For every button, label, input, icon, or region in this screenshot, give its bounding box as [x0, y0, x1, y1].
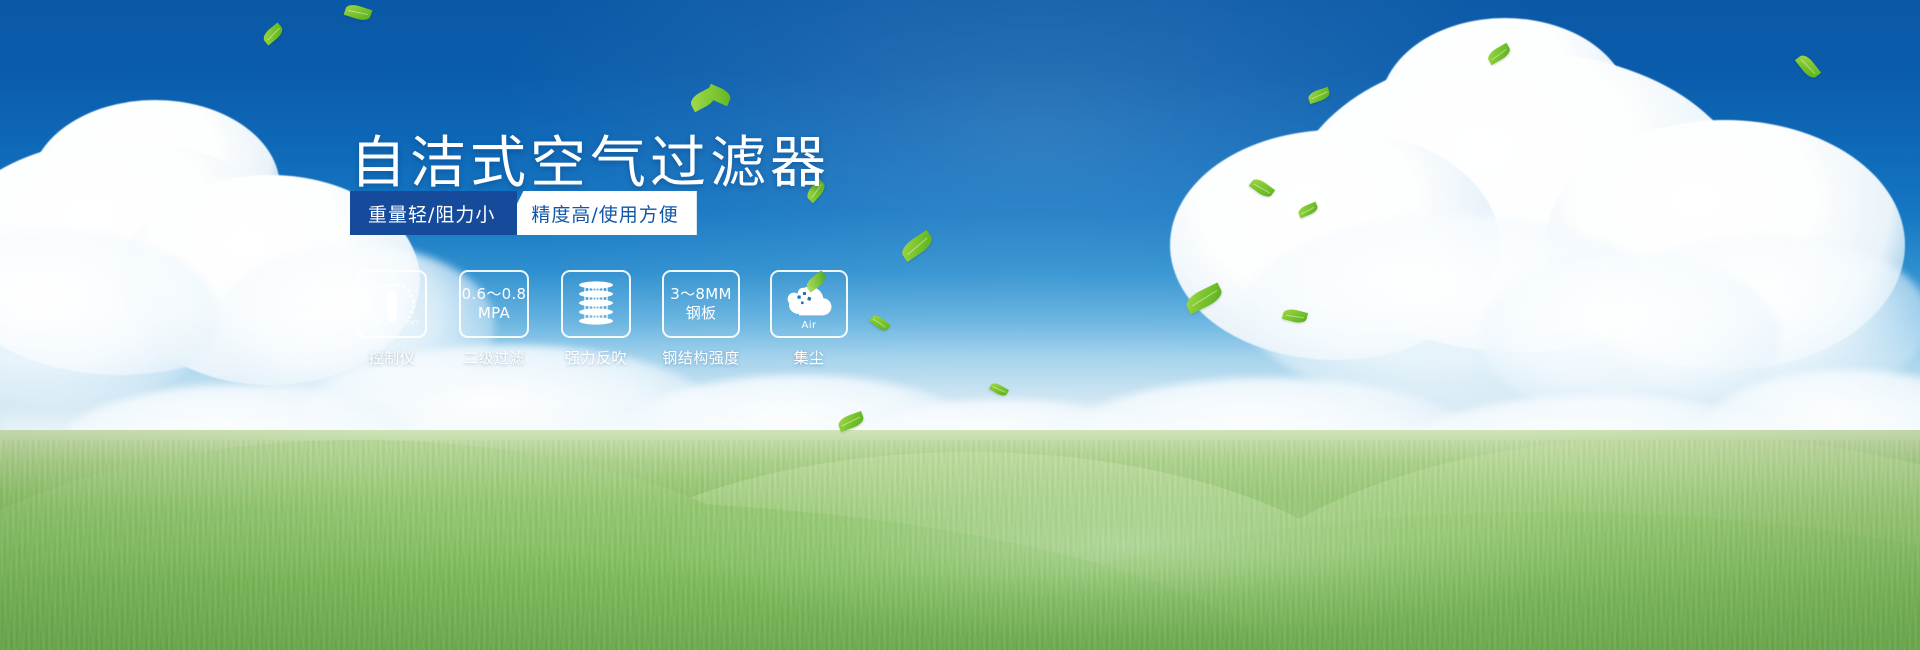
feature-icon-row: NO OFF 控制仪 0.6〜0.8 MPA 二级过滤 — [356, 270, 848, 368]
feature-box: 3〜8MM 钢板 — [662, 270, 740, 338]
feature-tabs: 重量轻/阻力小 精度高/使用方便 — [350, 191, 697, 235]
feature-caption: 集尘 — [793, 347, 824, 368]
page-title: 自洁式空气过滤器 — [350, 118, 830, 199]
air-cloud-icon: Air — [781, 278, 837, 330]
control-dial-icon: NO OFF — [366, 279, 418, 329]
feature-caption: 钢结构强度 — [662, 347, 740, 368]
promo-banner: 自洁式空气过滤器 重量轻/阻力小 精度高/使用方便 — [0, 0, 1920, 650]
filter-cartridge-icon — [571, 278, 621, 330]
feature-box: NO OFF — [357, 270, 427, 338]
steel-material: 钢板 — [670, 304, 731, 323]
banner-content: 自洁式空气过滤器 重量轻/阻力小 精度高/使用方便 — [0, 0, 1920, 650]
feature-item-control-instrument[interactable]: NO OFF 控制仪 — [356, 270, 428, 368]
steel-thickness: 3〜8MM — [670, 285, 731, 303]
feature-item-strong-backblow[interactable]: 强力反吹 — [560, 270, 632, 368]
feature-item-dust-collection[interactable]: Air 集尘 — [770, 270, 848, 368]
steel-plate-text-icon: 3〜8MM 钢板 — [670, 285, 731, 323]
dial-label-no: NO — [365, 305, 375, 312]
feature-box: 0.6〜0.8 MPA — [459, 270, 529, 338]
pressure-range: 0.6〜0.8 — [462, 285, 527, 303]
feature-caption: 二级过滤 — [463, 347, 525, 368]
dial-label-off: OFF — [407, 320, 420, 327]
feature-item-secondary-filtration[interactable]: 0.6〜0.8 MPA 二级过滤 — [458, 270, 530, 368]
tab-high-precision-easy-use[interactable]: 精度高/使用方便 — [501, 191, 696, 235]
feature-item-steel-structure-strength[interactable]: 3〜8MM 钢板 钢结构强度 — [662, 270, 740, 368]
air-label: Air — [781, 320, 837, 331]
pressure-text-icon: 0.6〜0.8 MPA — [462, 285, 527, 323]
tab-lightweight-low-resistance[interactable]: 重量轻/阻力小 — [350, 191, 517, 235]
feature-caption: 强力反吹 — [565, 347, 627, 368]
pressure-unit: MPA — [462, 304, 527, 323]
feature-caption: 控制仪 — [369, 347, 416, 368]
feature-box — [561, 270, 631, 338]
feature-box: Air — [770, 270, 848, 338]
